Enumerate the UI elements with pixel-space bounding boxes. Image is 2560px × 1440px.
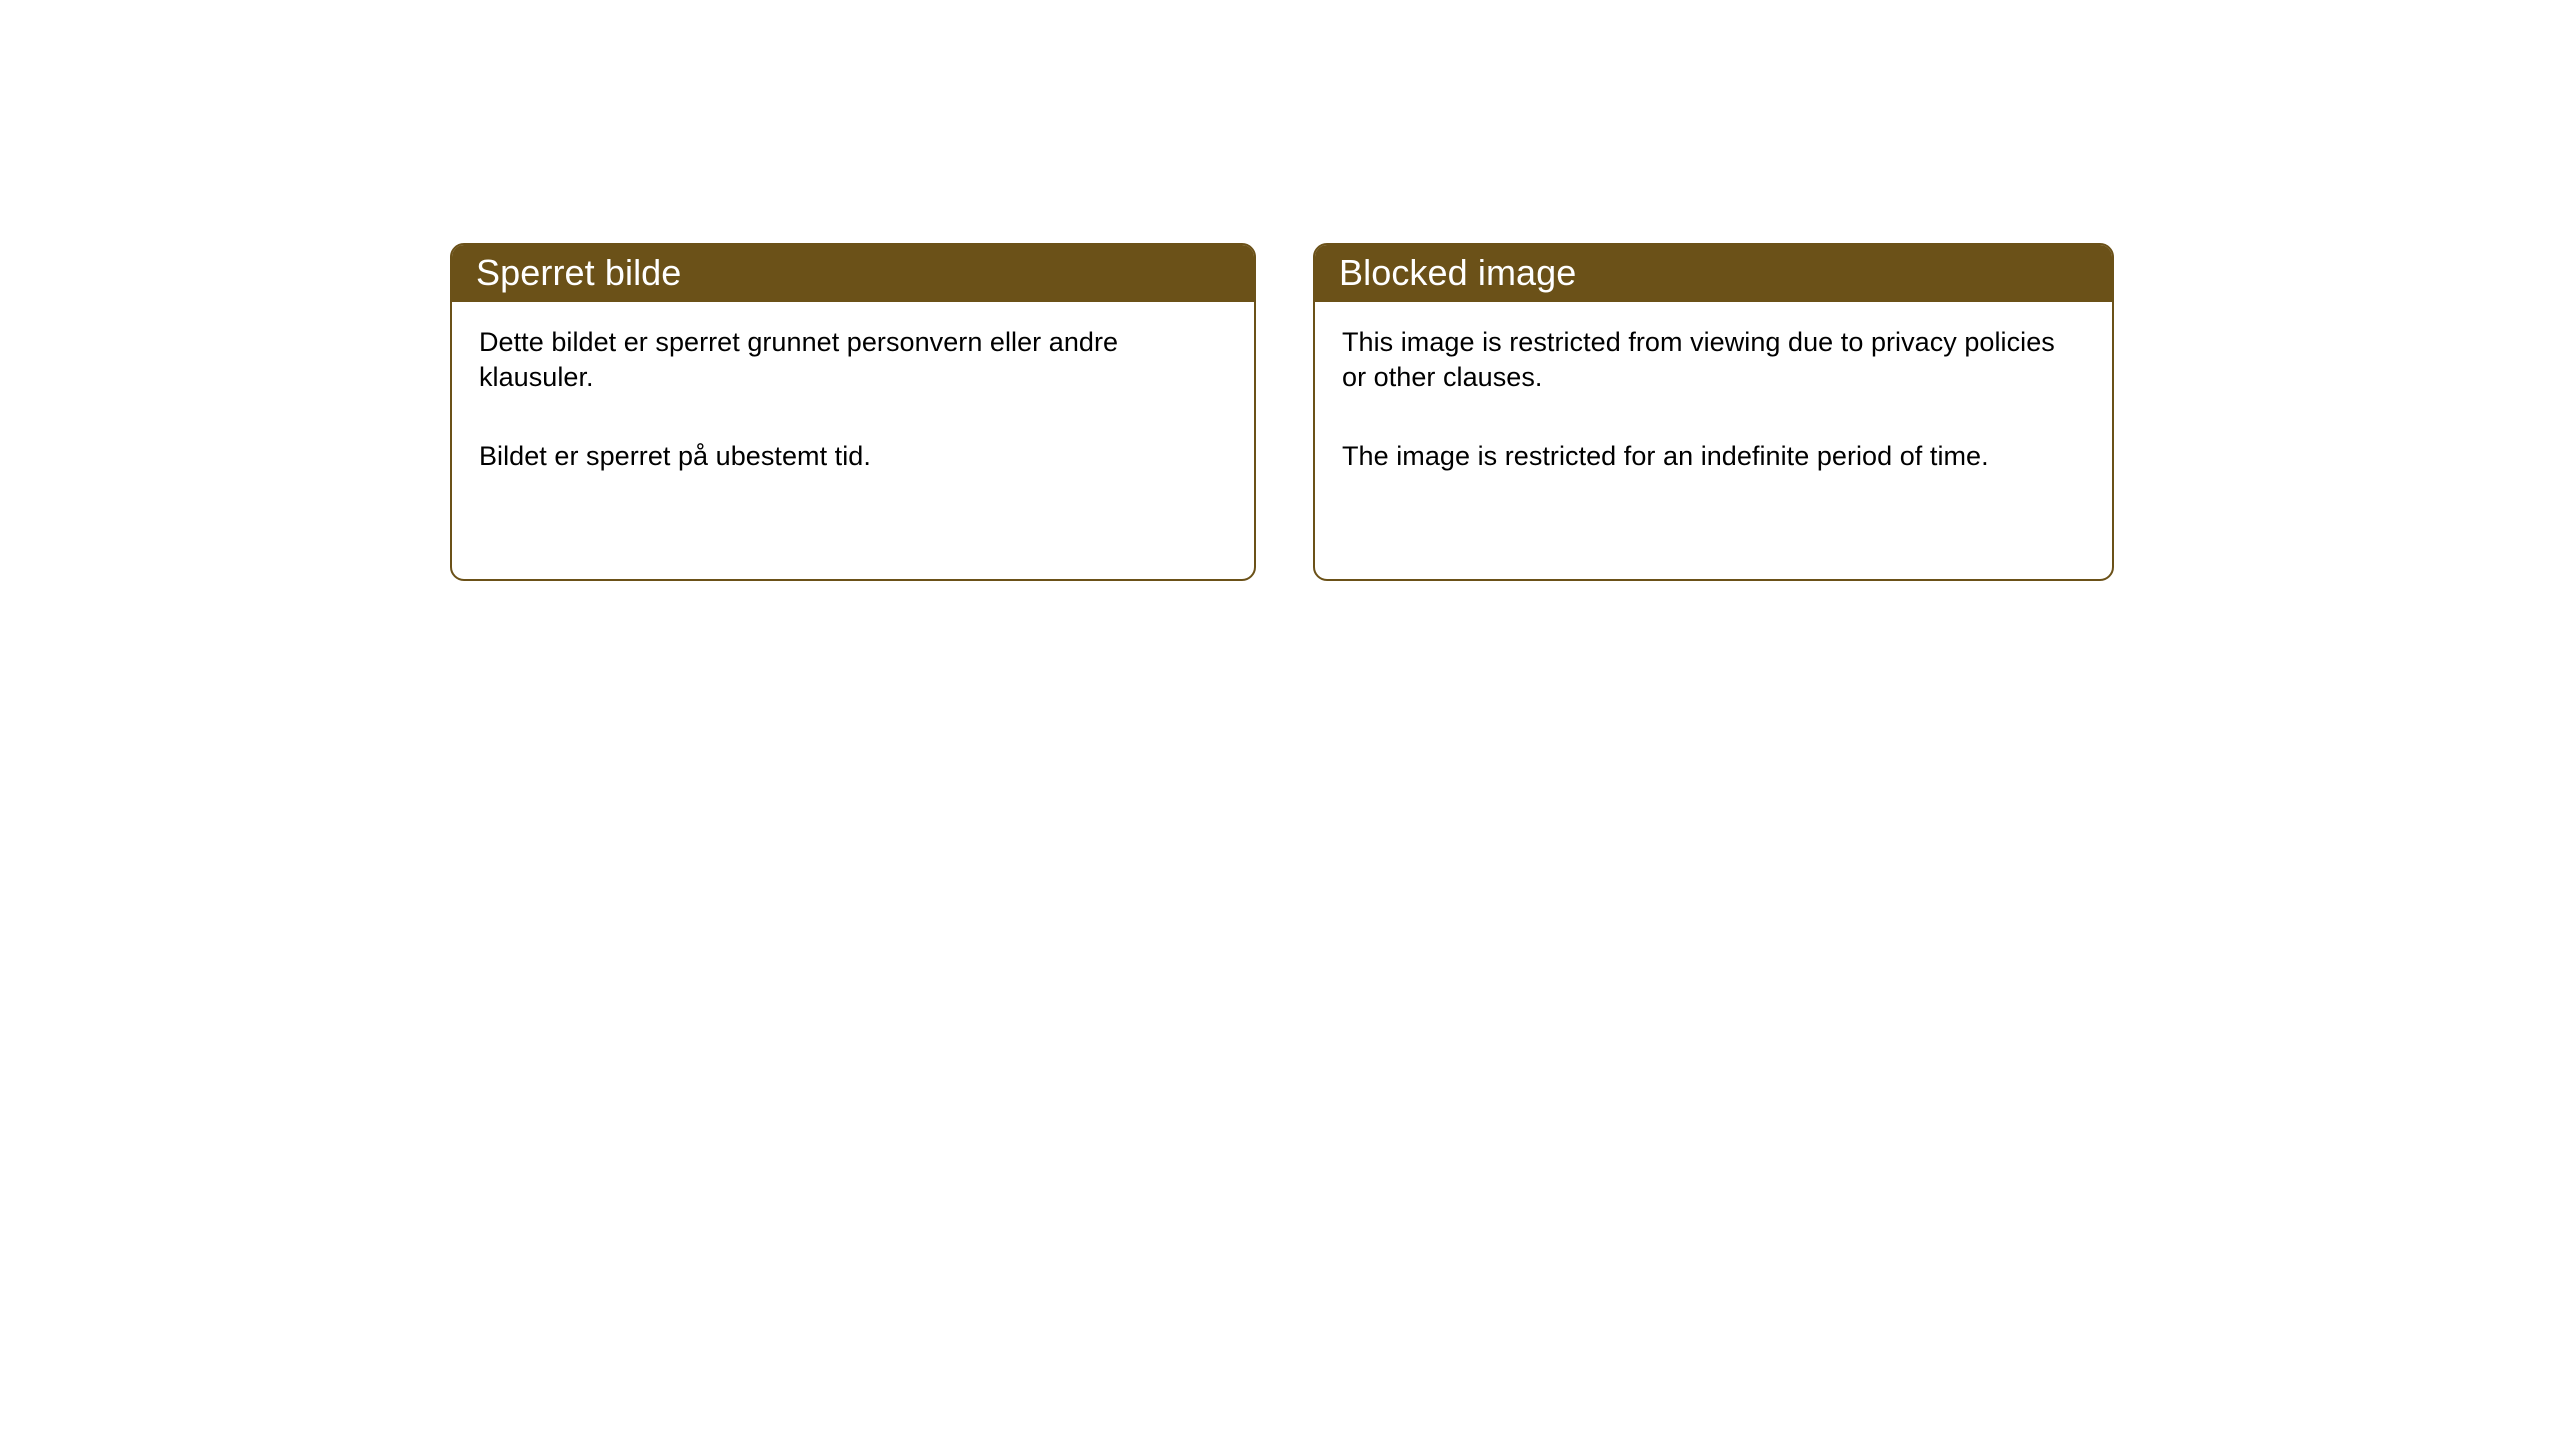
- page-root: Sperret bilde Dette bildet er sperret gr…: [0, 0, 2560, 1440]
- card-body-norwegian: Dette bildet er sperret grunnet personve…: [452, 302, 1254, 474]
- blocked-image-card-english: Blocked image This image is restricted f…: [1313, 243, 2114, 581]
- card-paragraph-reason-english: This image is restricted from viewing du…: [1342, 325, 2086, 395]
- card-body-english: This image is restricted from viewing du…: [1315, 302, 2112, 474]
- card-header-norwegian: Sperret bilde: [451, 244, 1255, 302]
- card-paragraph-duration-norwegian: Bildet er sperret på ubestemt tid.: [479, 439, 1228, 474]
- card-paragraph-duration-english: The image is restricted for an indefinit…: [1342, 439, 2086, 474]
- card-header-english: Blocked image: [1314, 244, 2113, 302]
- card-paragraph-reason-norwegian: Dette bildet er sperret grunnet personve…: [479, 325, 1228, 395]
- card-title-english: Blocked image: [1339, 253, 1576, 293]
- card-title-norwegian: Sperret bilde: [476, 253, 681, 293]
- blocked-image-card-norwegian: Sperret bilde Dette bildet er sperret gr…: [450, 243, 1256, 581]
